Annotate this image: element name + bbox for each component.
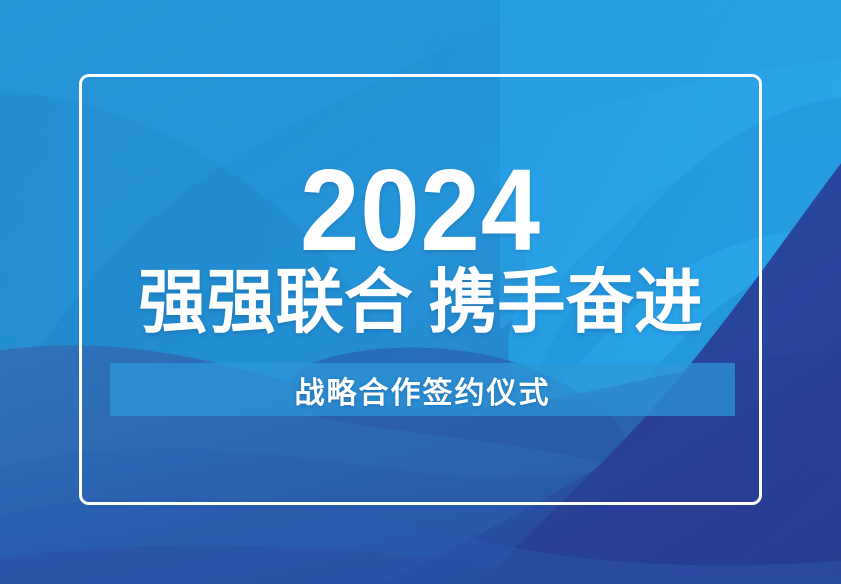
subtitle-heading: 战略合作签约仪式	[110, 363, 735, 416]
headline-right-phrase: 携手奋进	[428, 261, 702, 343]
main-headline: 强强联合携手奋进	[8, 266, 832, 339]
poster-canvas: 2024 强强联合携手奋进 战略合作签约仪式	[0, 0, 841, 584]
headline-left-phrase: 强强联合	[138, 261, 412, 343]
year-heading: 2024	[34, 152, 808, 268]
poster-content: 2024 强强联合携手奋进 战略合作签约仪式	[0, 0, 841, 584]
